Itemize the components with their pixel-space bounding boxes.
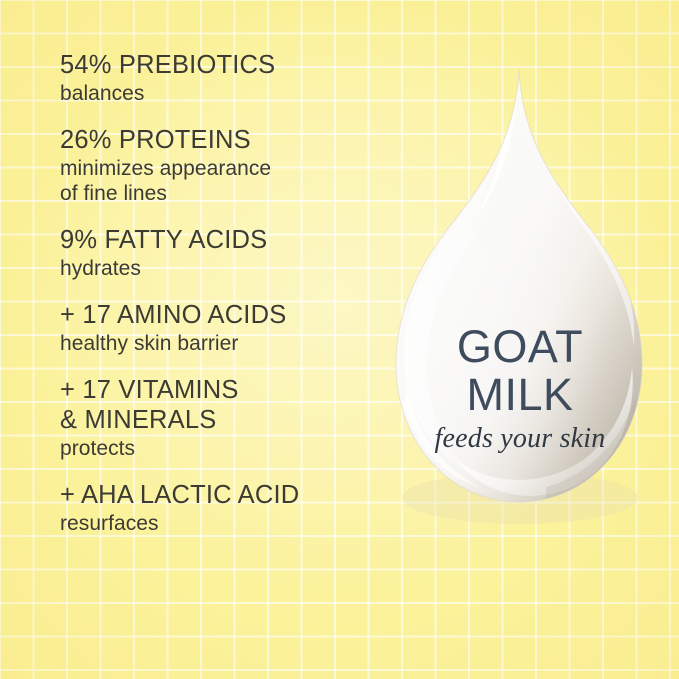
droplet-graphic: GOAT MILK feeds your skin bbox=[380, 55, 660, 555]
benefit-title: + 17 AMINO ACIDS bbox=[60, 300, 390, 330]
benefit-title: 54% PREBIOTICS bbox=[60, 50, 390, 80]
goat-milk-infographic: 54% PREBIOTICS balances 26% PROTEINS min… bbox=[0, 0, 679, 679]
benefit-title: 26% PROTEINS bbox=[60, 125, 390, 155]
benefit-subtitle: healthy skin barrier bbox=[60, 331, 390, 356]
benefit-title: + 17 VITAMINS & MINERALS bbox=[60, 375, 390, 435]
benefit-title: + AHA LACTIC ACID bbox=[60, 480, 390, 510]
benefit-item-fatty-acids: 9% FATTY ACIDS hydrates bbox=[60, 225, 390, 281]
milk-droplet-icon bbox=[380, 55, 660, 555]
benefit-subtitle: protects bbox=[60, 436, 390, 461]
benefit-item-vitamins-minerals: + 17 VITAMINS & MINERALS protects bbox=[60, 375, 390, 461]
benefits-list: 54% PREBIOTICS balances 26% PROTEINS min… bbox=[60, 50, 390, 536]
benefit-subtitle: hydrates bbox=[60, 256, 390, 281]
benefit-subtitle: minimizes appearance of fine lines bbox=[60, 156, 390, 206]
benefit-item-prebiotics: 54% PREBIOTICS balances bbox=[60, 50, 390, 106]
benefit-subtitle: resurfaces bbox=[60, 511, 390, 536]
benefit-item-aha-lactic-acid: + AHA LACTIC ACID resurfaces bbox=[60, 480, 390, 536]
benefit-item-proteins: 26% PROTEINS minimizes appearance of fin… bbox=[60, 125, 390, 206]
benefit-title: 9% FATTY ACIDS bbox=[60, 225, 390, 255]
benefit-subtitle: balances bbox=[60, 81, 390, 106]
benefit-item-amino-acids: + 17 AMINO ACIDS healthy skin barrier bbox=[60, 300, 390, 356]
